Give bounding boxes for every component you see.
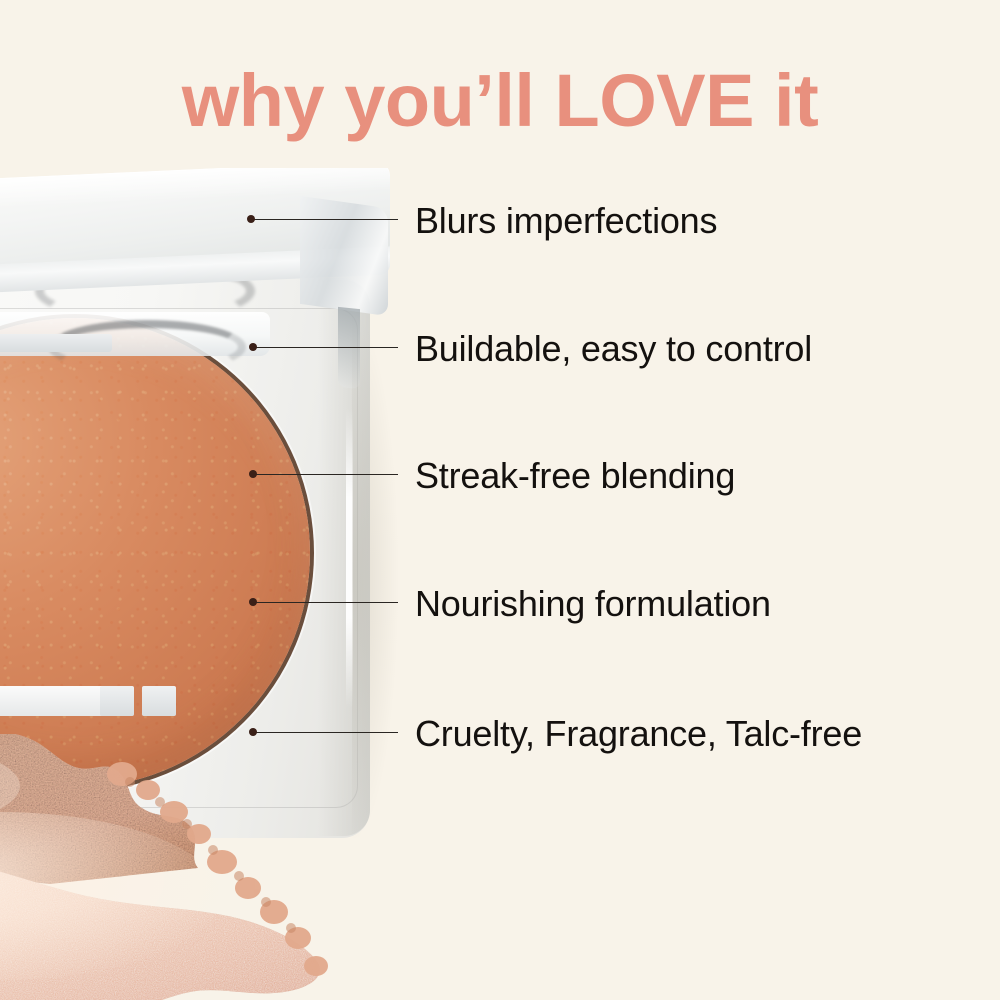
feature-label-blurs-imperfections: Blurs imperfections [415,203,717,239]
callout-line-5 [253,732,398,733]
callout-line-1 [251,219,398,220]
callout-line-4 [253,602,398,603]
clear-lid-right-corner [300,196,388,316]
callout-dot-1 [247,215,255,223]
callout-line-2 [253,347,398,348]
powder-swatch [0,716,390,1000]
powder-swatch-art [0,716,390,1000]
product-feature-infographic: why you’ll LOVE it HALEYS HALEYS [0,0,1000,1000]
callout-dot-5 [249,728,257,736]
flap-tab [0,334,112,352]
feature-label-buildable: Buildable, easy to control [415,331,812,367]
compact-hinge-segment [100,686,134,716]
product-photo: HALEYS HALEYS [0,168,400,1000]
callout-dot-3 [249,470,257,478]
feature-label-streak-free: Streak-free blending [415,458,735,494]
compact-hinge-segment [142,686,176,716]
feature-label-nourishing: Nourishing formulation [415,586,771,622]
callout-dot-2 [249,343,257,351]
page-title: why you’ll LOVE it [0,62,1000,140]
compact-hinge-bar [0,686,110,716]
callout-dot-4 [249,598,257,606]
callout-line-3 [253,474,398,475]
feature-label-cruelty-free: Cruelty, Fragrance, Talc-free [415,716,862,752]
